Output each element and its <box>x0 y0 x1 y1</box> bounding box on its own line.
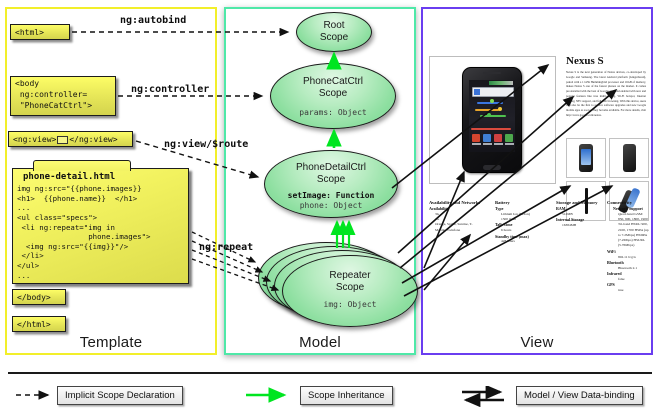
spec-value-availability-2: Orange, Sprint, Sunrise, T-Mobile, Vodaf… <box>429 222 483 233</box>
legend-icon-dashed-arrow <box>14 386 58 404</box>
phone-hero-image-frame <box>429 56 556 184</box>
phone-screen <box>469 80 515 152</box>
spec-column-connectivity: Connectivity Network Support Quad-band G… <box>607 200 649 293</box>
phone-speaker <box>483 72 501 74</box>
legend-label-scope-inheritance: Scope Inheritance <box>300 386 393 405</box>
phonecatctrl-scope: PhoneCatCtrl Scope params: Object <box>270 63 396 129</box>
sticky-note-code: img ng:src="{{phone.images}} <h1> {{phon… <box>13 184 188 280</box>
sticky-note-tab <box>33 160 131 171</box>
phone-app-icon-1 <box>472 134 480 142</box>
spec-value-storage-internal-0: 16384MB <box>556 223 604 228</box>
model-column-label: Model <box>226 334 414 351</box>
phone-app-label-2 <box>483 143 492 145</box>
body-close-tag-box: </body> <box>12 289 66 305</box>
phonedetailctrl-scope-title-2: Scope <box>265 174 397 186</box>
legend-icon-double-arrow <box>458 386 516 408</box>
spec-column-battery: Battery Type Lithium Ion (Li-Ion) 1500 m… <box>495 200 547 245</box>
phonedetailctrl-scope: PhoneDetailCtrl Scope setImage: Function… <box>264 150 398 218</box>
phone-wallpaper-line-3 <box>480 115 506 117</box>
legend: Implicit Scope Declaration Scope Inherit… <box>0 372 660 420</box>
phonedetailctrl-scope-prop-phone: phone: Object <box>265 201 397 211</box>
repeater-scope-prop-img: img: Object <box>283 300 417 310</box>
legend-label-implicit-scope-declaration: Implicit Scope Declaration <box>57 386 183 405</box>
phone-app-icon-row <box>472 134 512 148</box>
arrow-label-autobind: ng:autobind <box>120 15 186 26</box>
phone-device-image <box>462 67 522 173</box>
phone-wallpaper-dot-2 <box>498 107 502 111</box>
view-column-label: View <box>423 334 651 351</box>
thumbnail-phone-front-screen <box>581 149 591 165</box>
repeater-scope-title-2: Scope <box>283 282 417 294</box>
phone-statusbar <box>489 81 513 85</box>
diagram-canvas: Template <html> <body ng:controller= "Ph… <box>0 0 660 420</box>
ngview-slot-icon <box>57 136 68 144</box>
phone-app-label-1 <box>472 143 481 145</box>
phonecatctrl-scope-title-2: Scope <box>271 88 395 100</box>
root-scope-title-1: Root <box>297 20 371 32</box>
spec-column-availability: Availability and Networks Availability 3… <box>429 200 483 233</box>
phone-app-icon-4 <box>505 134 513 142</box>
product-title: Nexus S <box>566 55 604 67</box>
phone-home-button <box>483 165 501 170</box>
phonedetailctrl-scope-prop-setimage: setImage: Function <box>265 191 397 201</box>
ngview-close-label: </ng:view> <box>69 135 117 144</box>
phone-detail-sticky-note: phone-detail.html img ng:src="{{phone.im… <box>12 168 189 284</box>
spec-value-gps-0: true <box>607 288 649 293</box>
phonecatctrl-scope-title-1: PhoneCatCtrl <box>271 76 395 88</box>
arrow-label-repeat: ng:repeat <box>199 242 253 253</box>
template-column-label: Template <box>7 334 215 351</box>
product-description: Nexus S is the next generation of Nexus … <box>566 70 646 118</box>
phone-wallpaper-line-2 <box>475 109 499 111</box>
phone-wallpaper-dot-1 <box>490 99 494 103</box>
rendered-view-page: Nexus S Nexus S is the next generation o… <box>429 48 647 240</box>
product-thumbnail-1[interactable] <box>566 138 606 178</box>
product-spec-table: Availability and Networks Availability 3… <box>429 200 647 258</box>
phonedetailctrl-scope-title-1: PhoneDetailCtrl <box>265 162 397 174</box>
arrow-label-controller: ng:controller <box>131 84 209 95</box>
legend-icon-solid-green-arrow <box>242 386 298 404</box>
spec-column-storage: Storage and Memory RAM 512MB Internal St… <box>556 200 604 228</box>
repeater-scope: Repeater Scope img: Object <box>282 255 418 327</box>
phone-wallpaper-line-4 <box>471 128 511 130</box>
ngview-open-label: <ng:view> <box>13 135 56 144</box>
html-close-tag-box: </html> <box>12 316 66 332</box>
root-scope-title-2: Scope <box>297 32 371 44</box>
arrow-label-view-route: ng:view/$route <box>164 139 248 150</box>
spec-value-network-support-0: Quad-band GSM: 850, 900, 1800, 1900 Tri-… <box>607 212 649 249</box>
body-open-tag-box: <body ng:controller= "PhoneCatCtrl"> <box>10 76 116 116</box>
phone-app-label-4 <box>505 143 514 145</box>
sticky-note-filename: phone-detail.html <box>13 169 188 184</box>
html-open-tag-box: <html> <box>10 24 70 40</box>
legend-divider <box>8 372 652 374</box>
thumbnail-phone-back <box>623 144 636 172</box>
repeater-scope-title-1: Repeater <box>283 270 417 282</box>
phone-app-label-3 <box>494 143 503 145</box>
ngview-tag-box: <ng:view></ng:view> <box>8 131 133 147</box>
phone-wallpaper-dot-3 <box>487 113 491 117</box>
phone-app-icon-2 <box>483 134 491 142</box>
root-scope: Root Scope <box>296 12 372 52</box>
spec-value-battery-standby-0: 428 hours <box>495 239 547 244</box>
legend-label-model-view-data-binding: Model / View Data-binding <box>516 386 643 405</box>
phonecatctrl-scope-prop-params: params: Object <box>271 108 395 118</box>
phone-app-icon-3 <box>494 134 502 142</box>
product-thumbnail-2[interactable] <box>609 138 649 178</box>
phone-search-widget <box>472 87 514 97</box>
